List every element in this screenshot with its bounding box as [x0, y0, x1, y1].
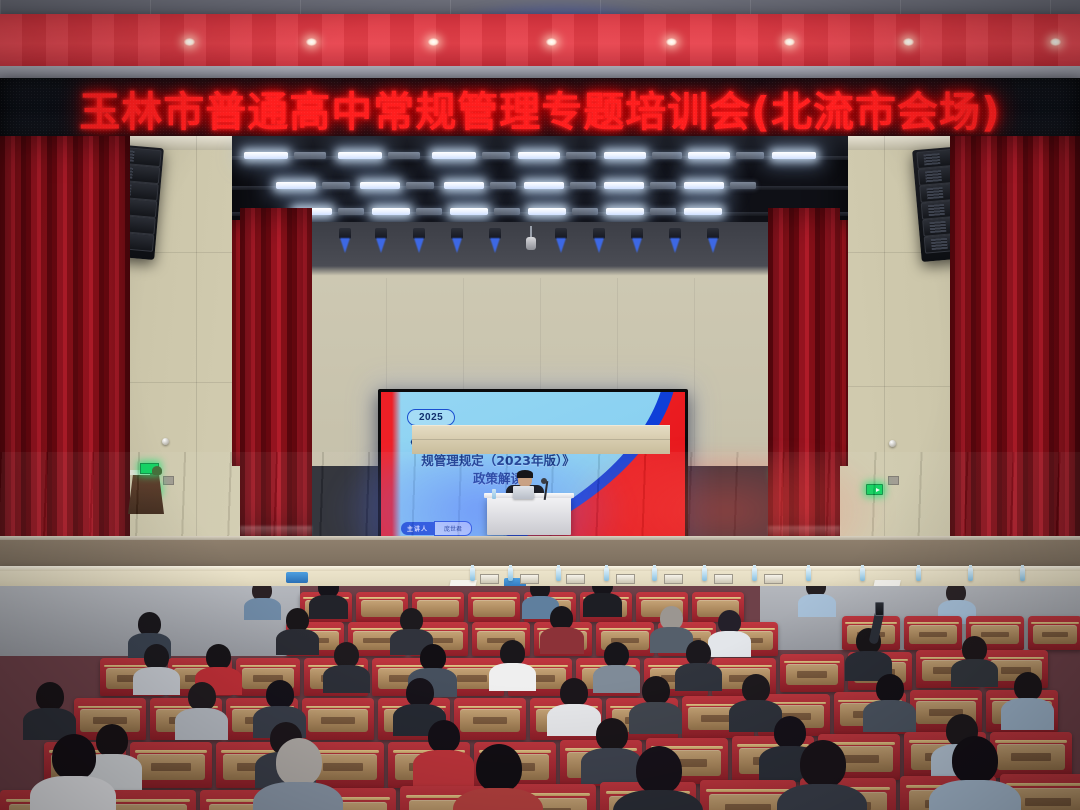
ceiling-downlight [784, 38, 795, 46]
par-can-light [668, 228, 682, 254]
ceiling-projector [524, 226, 537, 252]
par-can-light [338, 228, 352, 254]
presenter-hair [517, 470, 533, 478]
blue-equipment-case [286, 572, 308, 583]
ceiling-downlight [903, 38, 914, 46]
ceiling-downlight [184, 38, 195, 46]
table-name-card [714, 574, 733, 584]
audience-seat [990, 732, 1072, 778]
table-name-card [764, 574, 783, 584]
table-water-bottle [702, 568, 707, 581]
table-name-card [664, 574, 683, 584]
ceiling-downlight [666, 38, 677, 46]
table-water-bottle [652, 568, 657, 581]
par-can-light [374, 228, 388, 254]
table-water-bottle [968, 568, 973, 581]
microphone-icon [541, 478, 547, 484]
table-name-card [520, 574, 539, 584]
par-can-light [554, 228, 568, 254]
audience-seating-area [0, 586, 1080, 810]
smartphone-icon [875, 602, 884, 616]
par-can-light [488, 228, 502, 254]
left-wall-fixture [162, 438, 169, 445]
audience-seat [780, 654, 844, 692]
presenter-water-bottle [492, 489, 496, 499]
table-water-bottle [604, 568, 609, 581]
ceiling-red-soffit [0, 14, 1080, 68]
table-water-bottle [508, 568, 513, 581]
ceiling-downlight [428, 38, 439, 46]
presenter-laptop [513, 486, 534, 499]
auditorium-scene: 玉林市普通高中常规管理专题培训会(北流市会场) [0, 0, 1080, 810]
ceiling-downlight [1050, 38, 1061, 46]
ceiling-downlight [546, 38, 557, 46]
table-name-card [616, 574, 635, 584]
ceiling-downlight [306, 38, 317, 46]
par-can-light [450, 228, 464, 254]
right-wall-fixture [889, 440, 896, 447]
audience-seat [130, 742, 212, 788]
table-name-card [480, 574, 499, 584]
banner-title-text: 玉林市普通高中常规管理专题培训会(北流市会场) [0, 78, 1080, 138]
audience-seat [1028, 616, 1080, 650]
stage-steps [412, 425, 670, 454]
par-can-light [706, 228, 720, 254]
table-water-bottle [860, 568, 865, 581]
audience-seat [454, 698, 526, 740]
par-can-light [630, 228, 644, 254]
table-water-bottle [752, 568, 757, 581]
audience-seat [302, 698, 374, 740]
par-can-light [412, 228, 426, 254]
table-water-bottle [556, 568, 561, 581]
table-water-bottle [1020, 568, 1025, 581]
table-water-bottle [806, 568, 811, 581]
table-water-bottle [916, 568, 921, 581]
presenter-desk [487, 497, 571, 535]
slide-year-badge: 2025 [407, 409, 455, 426]
audience-seat [468, 592, 520, 622]
audience-seat [904, 616, 962, 650]
par-can-light [592, 228, 606, 254]
led-banner: 玉林市普通高中常规管理专题培训会(北流市会场) [0, 78, 1080, 138]
soffit-sheen [0, 14, 1080, 68]
table-water-bottle [470, 568, 475, 581]
table-name-card [566, 574, 585, 584]
